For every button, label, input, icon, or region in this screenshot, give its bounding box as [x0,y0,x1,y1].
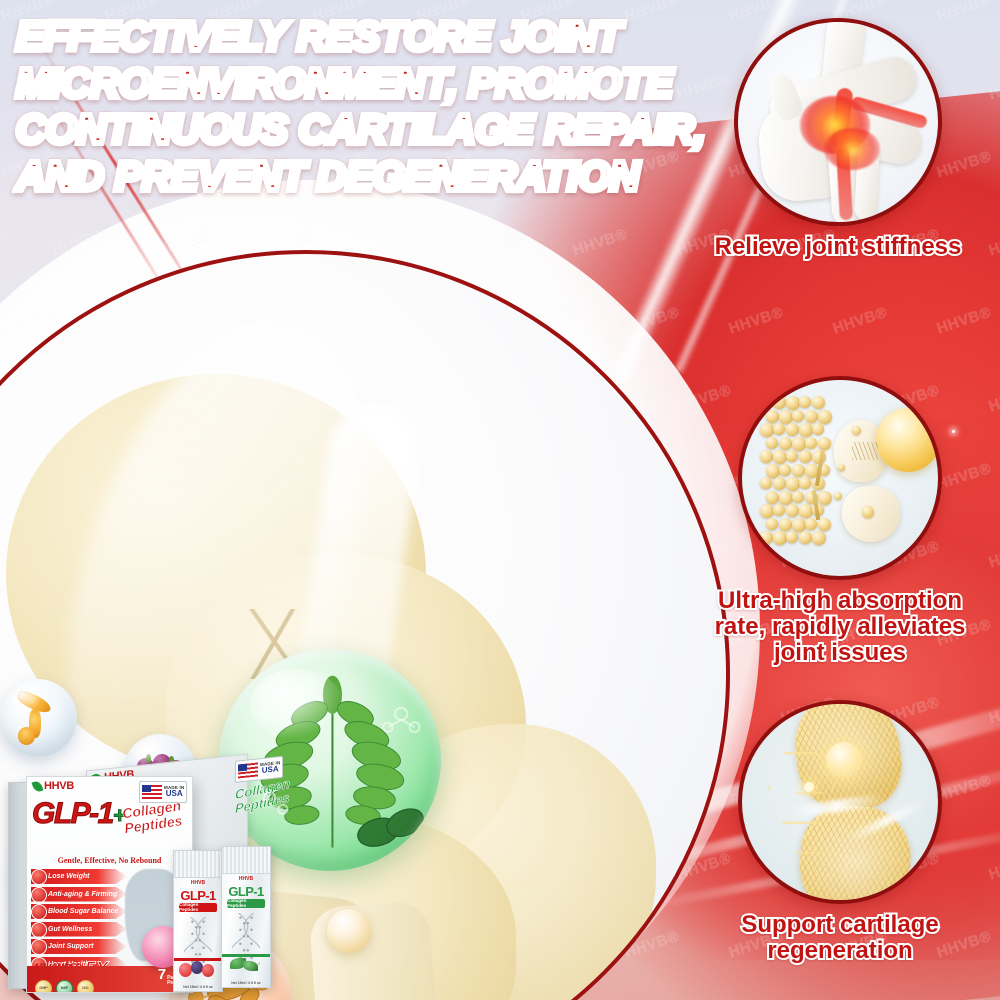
feature-caption: Support cartilage regeneration [706,912,974,964]
collagen-bead [799,450,812,463]
feature-relieve-joint-stiffness: Relieve joint stiffness [713,18,963,260]
product-sachet-mint[interactable]: HHVB GLP-1 Collagen Peptides [221,846,271,988]
product-pack-group[interactable]: HHVB MADE INUSA Collagen Peptides HHVB M… [8,762,288,1000]
collagen-bead [766,464,780,478]
feature-image-knee-inflammation [734,18,942,226]
sachet-flavor-image-berry [178,959,218,979]
collagen-bead [779,437,792,450]
oil-droplet [876,408,940,472]
collagen-bead [786,423,799,436]
product-tagline-bar: Weight Loss & Firming Oral Solution [31,839,188,854]
inflammation-glow [824,128,880,170]
collagen-bead [852,426,861,435]
collagen-bead [779,491,793,505]
benefit-icon [31,939,47,955]
headline-line-3: CONTINUOUS CARTILAGE REPAIR, [16,107,716,152]
collagen-bead [773,396,786,409]
sachet-subtitle: Collagen Peptides [179,903,217,912]
collagen-bead [799,477,811,489]
sachet-brand: HHVB [174,881,222,886]
certification-seal: NSF [56,980,73,993]
collagen-bead [786,477,800,491]
collagen-bead [805,410,818,423]
brand-logo: HHVB [33,781,74,792]
collagen-bead [760,450,773,463]
usa-badge-text: MADE INUSA [164,786,184,799]
collagen-bead [766,491,779,504]
collagen-bead [760,396,772,408]
headline: EFFECTIVELY RESTORE JOINT MICROENVIRONME… [16,14,716,201]
collagen-bead [799,504,813,518]
collagen-bead [779,464,791,476]
collagen-bead [766,518,778,530]
collagen-bead [792,437,806,451]
collagen-bead [779,518,792,531]
sachet-title: GLP-1 [174,889,222,902]
collagen-bead [862,506,874,518]
brand-name: HHVB [44,781,74,792]
glow-dot [804,782,814,792]
feature-ultra-high-absorption: Ultra-high absorption rate, rapidly alle… [700,376,980,666]
collagen-bead [812,396,825,409]
sachet-net-weight: Net 15ml / 0.5 fl oz [222,982,270,985]
sachet-seal-edge [222,847,270,874]
collagen-bead-cluster [760,396,840,556]
benefit-item: Blood Sugar Balance [31,904,127,919]
feature-caption: Relieve joint stiffness [713,234,963,260]
certification-seals: GMP NSF ISO [35,980,94,993]
certification-seal: GMP [35,980,52,993]
collagen-bead [760,531,773,544]
benefit-item: Joint Support [31,939,127,954]
collagen-bead [760,477,772,489]
collagen-bead [792,518,806,532]
collagen-bead [766,410,779,423]
collagen-bead [786,531,798,543]
usa-flag-icon [238,762,258,778]
collagen-bead [760,423,774,437]
regeneration-glow-orb [826,742,862,778]
benefit-icon [31,869,47,885]
feature-image-cartilage-mesh [738,700,942,904]
sachet-flavor-image-mint [226,955,266,975]
usa-flag-icon [142,785,162,799]
collagen-bead [773,531,787,545]
leaf-icon [32,780,44,793]
product-title: GLP-1+ [32,799,124,829]
collagen-bead [766,437,778,449]
collagen-bead [773,504,785,516]
feature-support-cartilage-regeneration: Support cartilage regeneration [706,700,974,964]
sachet-brand: HHVB [222,877,270,882]
promo-banner: EFFECTIVELY RESTORE JOINT MICROENVIRONME… [0,0,1000,1000]
collagen-bead [760,504,774,518]
product-title-secondary: Collagen Peptides [121,796,193,836]
sachet-title: GLP-1 [222,885,270,898]
collagen-bead [799,423,813,437]
collagen-bead [779,410,793,424]
collagen-bead [799,531,812,544]
product-benefit-list: Lose Weight Anti-aging & Firming Blood S… [31,869,127,974]
benefit-item: Gut Wellness [31,922,127,937]
collagen-bead [818,491,832,505]
headline-line-1: EFFECTIVELY RESTORE JOINT [16,14,716,59]
feature-caption: Ultra-high absorption rate, rapidly alle… [700,588,980,666]
benefit-icon [31,922,47,938]
collagen-bead [818,437,831,450]
benefit-item: Anti-aging & Firming [31,887,127,902]
benefit-icon [31,887,47,903]
collagen-bead [773,477,786,490]
cartilage-crack [852,442,878,460]
sachet-net-weight: Net 15ml / 0.5 fl oz [174,986,222,989]
collagen-bead [799,396,811,408]
collagen-bead [773,423,785,435]
collagen-bead [812,531,826,545]
ingredient-sphere-honey [0,679,77,757]
sachet-subtitle: Collagen Peptides [227,899,265,908]
mini-oil-droplet [327,909,371,953]
joint-bone-shaft [308,900,443,1000]
headline-line-2: MICROENVIRONMENT, PROMOTE [16,61,716,106]
collagen-bead [786,450,798,462]
benefit-item: Lose Weight [31,869,127,884]
usa-badge-text: MADE INUSA [260,761,280,776]
sachet-seal-edge [174,851,222,878]
collagen-bead [792,410,804,422]
product-subline: Gentle, Effective, No Rebound [31,857,188,865]
collagen-bead [786,396,800,410]
headline-line-4: AND PREVENT DEGENERATION [16,154,716,199]
collagen-bead [773,450,787,464]
collagen-bead [805,437,817,449]
collagen-bead [786,504,799,517]
certification-seal: ISO [77,980,94,993]
product-tagline: Weight Loss & Firming Oral Solution [37,842,182,851]
product-sachet-berry[interactable]: HHVB GLP-1 Collagen Peptides [173,850,223,992]
product-box-front[interactable]: HHVB MADE INUSA GLP-1+ Collagen Peptides… [26,776,193,993]
collagen-bead [812,423,824,435]
collagen-bead [792,464,805,477]
feature-image-collagen-beads [738,376,942,580]
collagen-bead [818,410,832,424]
collagen-bead [792,491,804,503]
benefit-icon [31,904,47,920]
sphere-rim [0,679,77,757]
